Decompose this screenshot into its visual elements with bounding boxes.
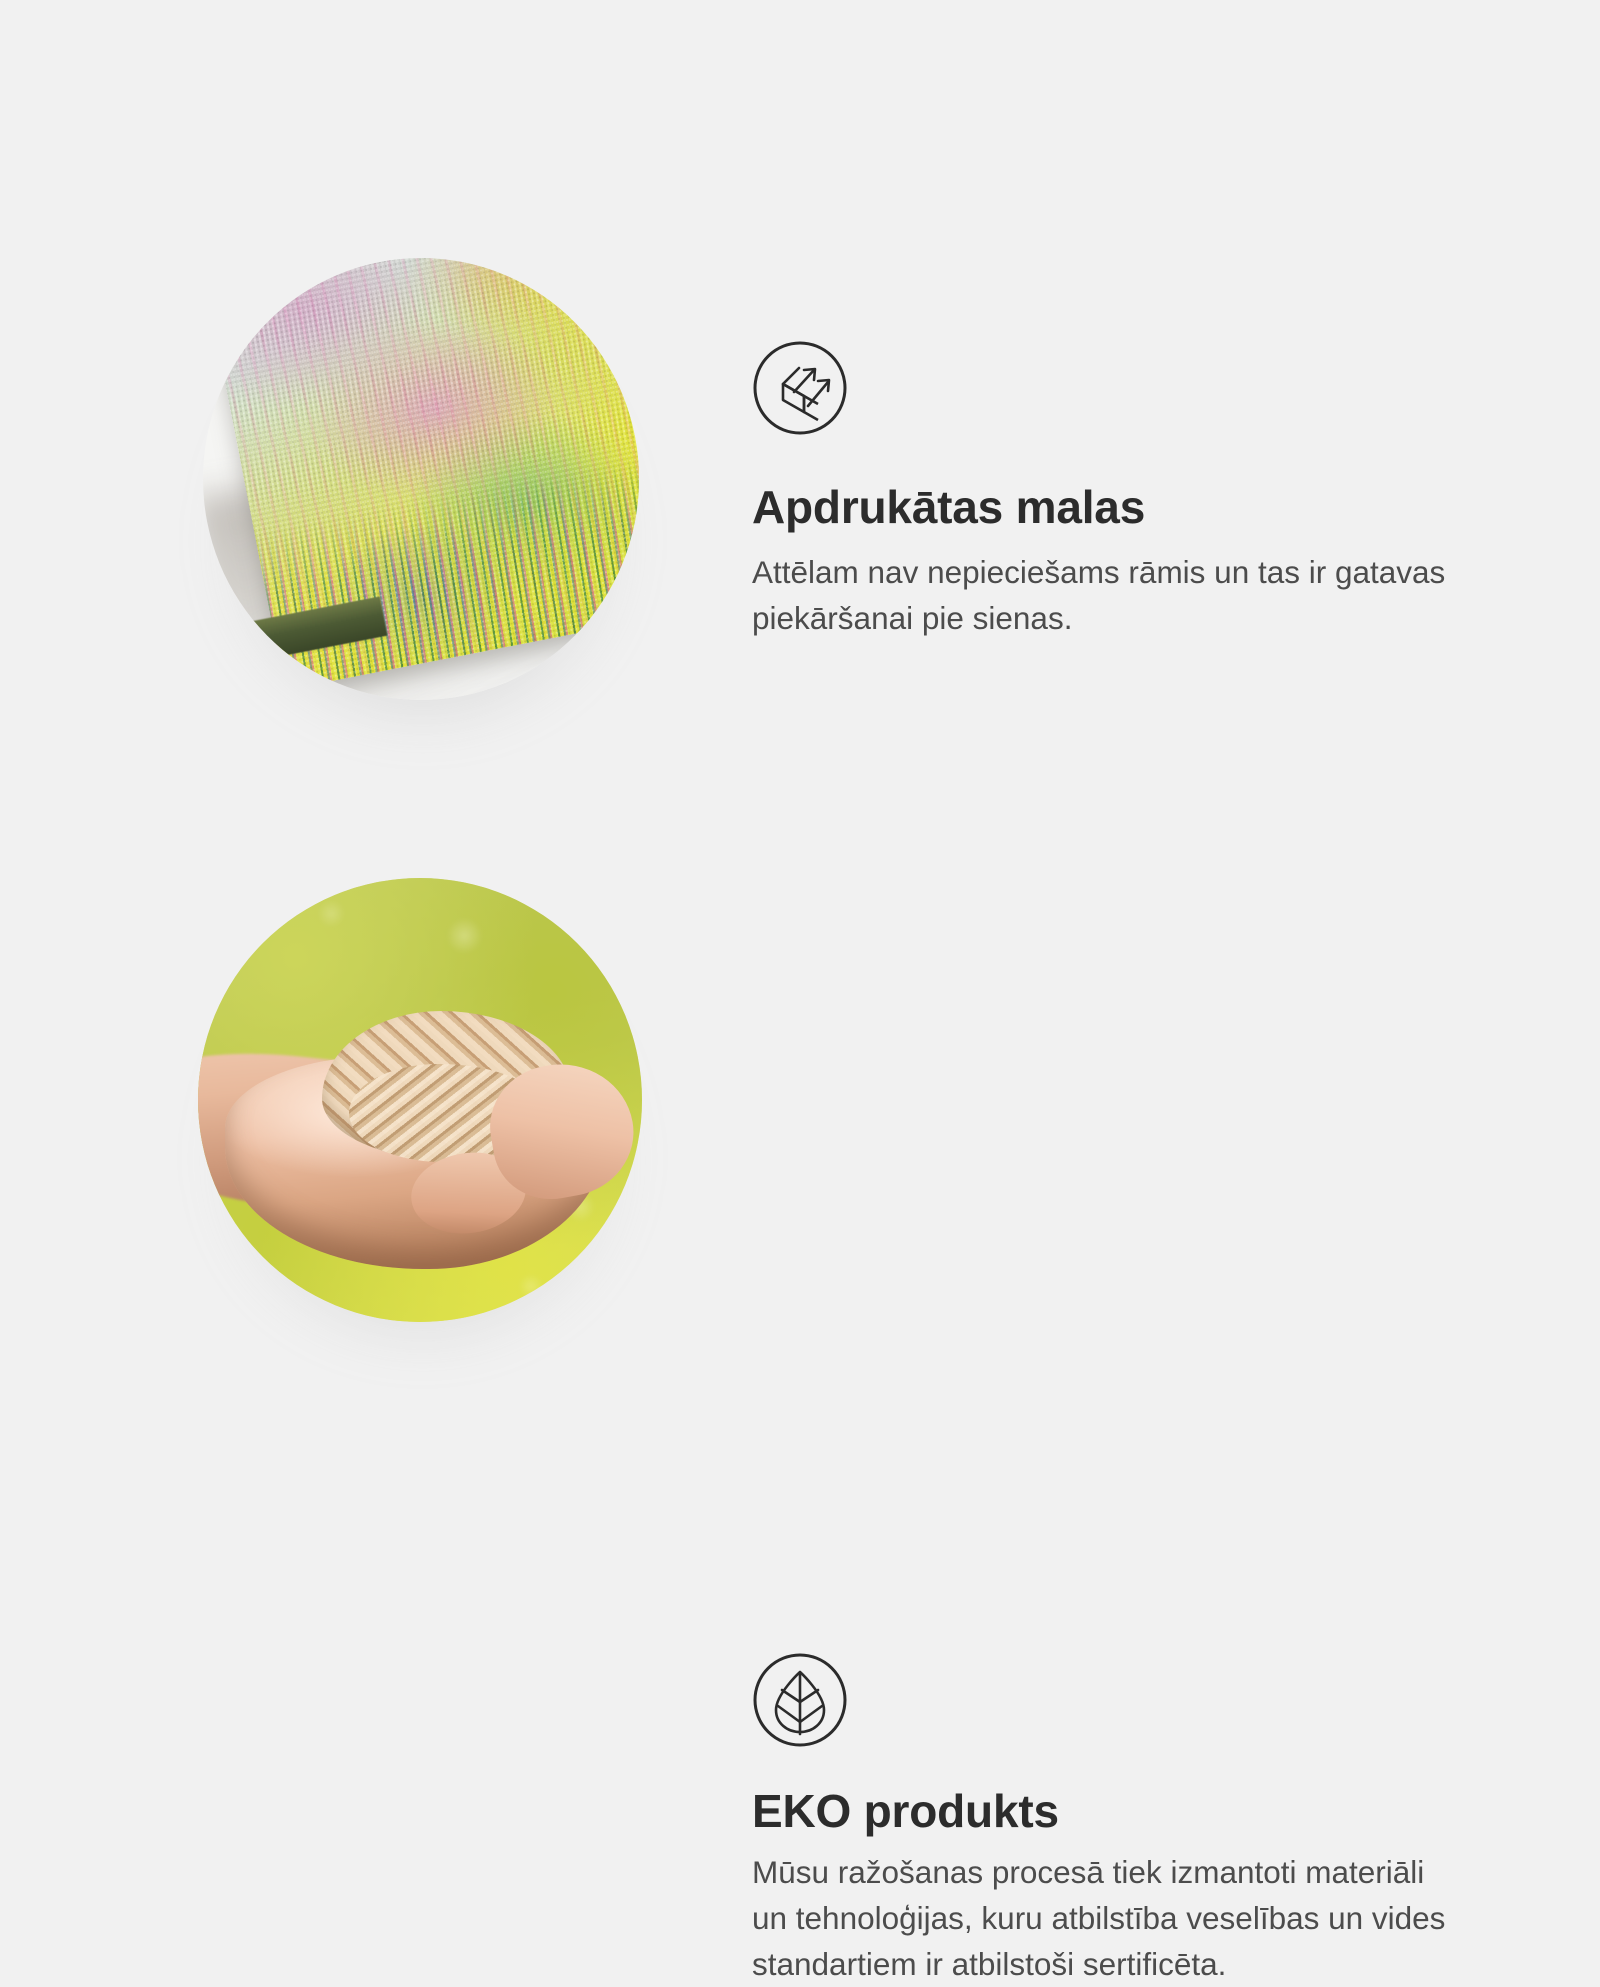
feature-description-eko-product: Mūsu ražošanas procesā tiek izmantoti ma… <box>752 1849 1464 1987</box>
product-features-page: Apdrukātas malas Attēlam nav nepieciešam… <box>0 0 1600 1600</box>
leaf-icon <box>752 1652 848 1748</box>
canvas-print-photo <box>203 258 639 700</box>
feature-description-printed-edges: Attēlam nav nepieciešams rāmis un tas ir… <box>752 549 1452 642</box>
canvas-print-image-circle <box>203 258 639 700</box>
eco-product-photo <box>198 878 642 1322</box>
eco-photo-inner <box>198 878 642 1322</box>
wrapped-canvas-edges-icon <box>752 340 848 436</box>
eko-product-text-column: EKO produkts Mūsu ražošanas procesā tiek… <box>752 1652 1492 1987</box>
feature-title-eko-product: EKO produkts <box>752 1786 1492 1837</box>
feature-title-printed-edges: Apdrukātas malas <box>752 482 1492 533</box>
printed-edges-text-column: Apdrukātas malas Attēlam nav nepieciešam… <box>752 340 1492 641</box>
feature-block-printed-edges: Apdrukātas malas Attēlam nav nepieciešam… <box>0 0 1600 800</box>
canvas-photo-inner <box>203 258 639 700</box>
feature-block-eko-product: EKO produkts Mūsu ražošanas procesā tiek… <box>0 800 1600 1600</box>
eco-product-image-circle <box>198 878 642 1322</box>
